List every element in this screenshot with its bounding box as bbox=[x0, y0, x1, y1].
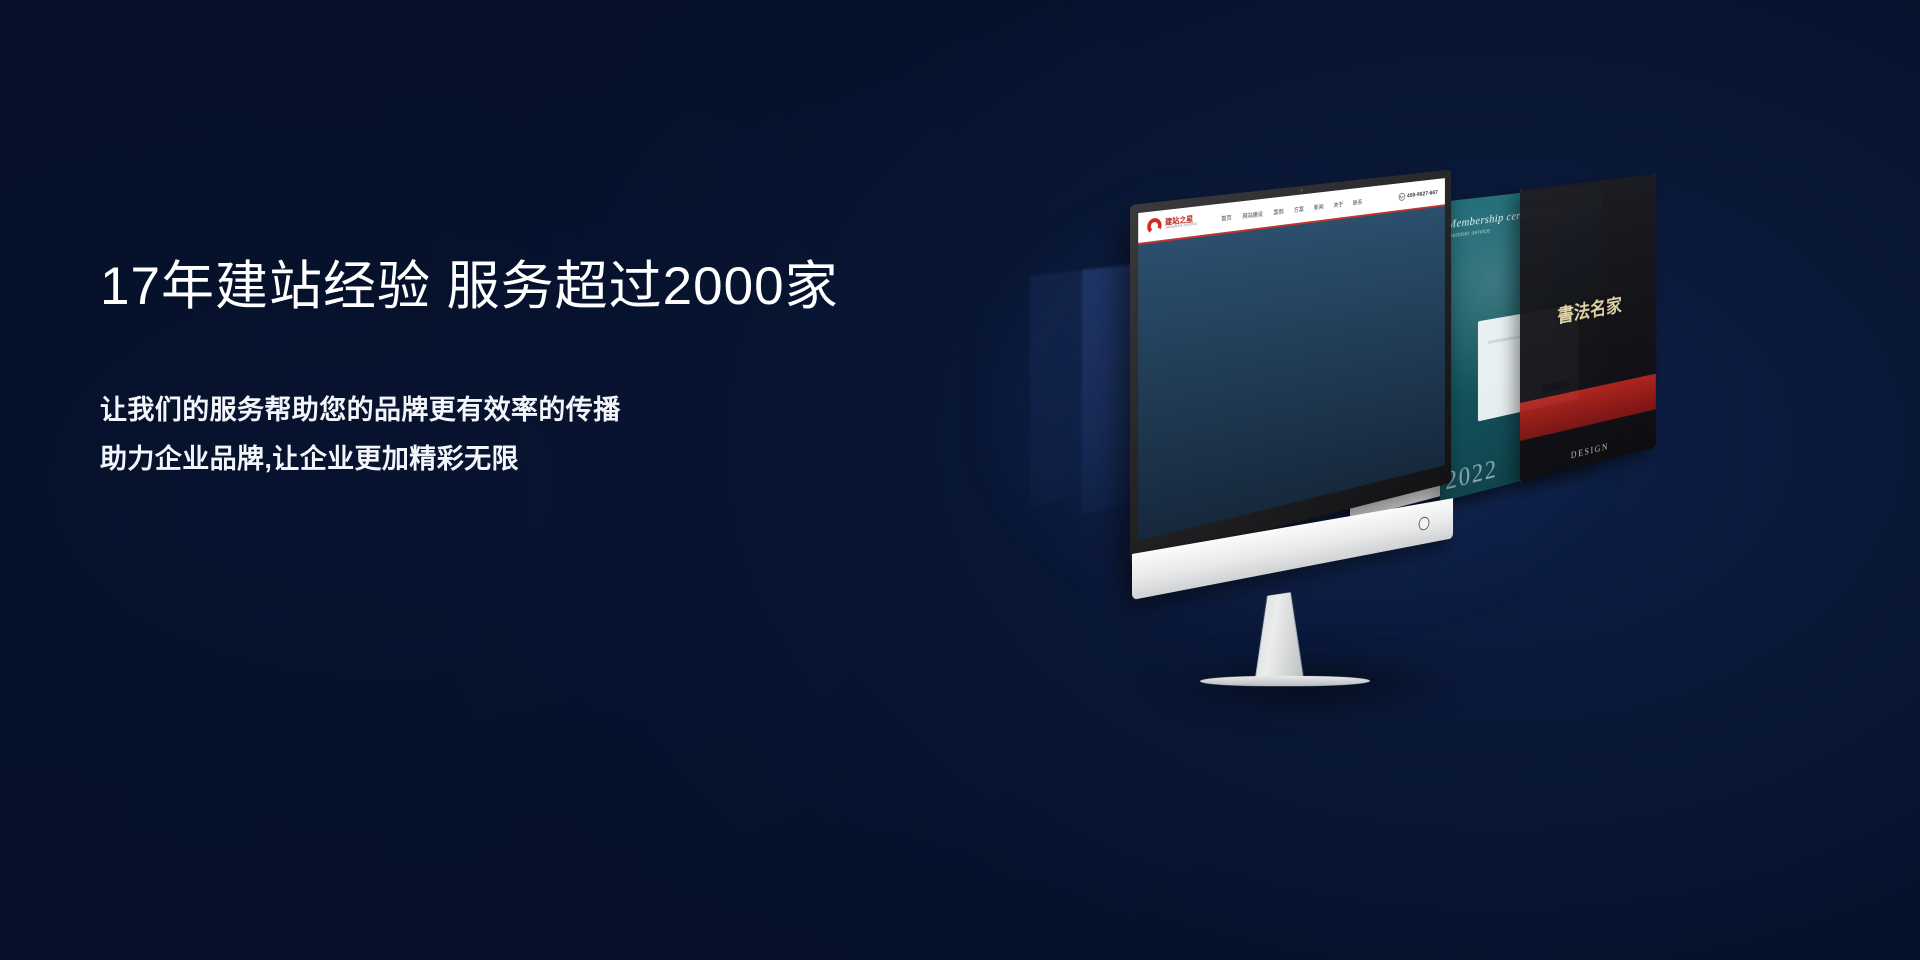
nav-item-2[interactable]: 案例 bbox=[1273, 206, 1283, 216]
nav-item-1[interactable]: 网站建设 bbox=[1242, 209, 1262, 220]
power-button[interactable] bbox=[1419, 516, 1430, 531]
logo-mark-icon bbox=[1147, 217, 1161, 235]
website-logo: 建站之星 JIANZHAN ZHIXING bbox=[1147, 213, 1197, 235]
monitor-base bbox=[1197, 676, 1371, 686]
monitor-graphic: 10 6000 bbox=[1020, 150, 1580, 670]
website-phone: 400-9627-667 bbox=[1398, 188, 1438, 201]
webcam-dot bbox=[1301, 189, 1303, 192]
subtitle-line-2: 助力企业品牌,让企业更加精彩无限 bbox=[100, 435, 980, 484]
display-panel: 建站之星 JIANZHAN ZHIXING 首页 网站建设 案例 方案 新闻 关… bbox=[1138, 178, 1445, 541]
nav-item-3[interactable]: 方案 bbox=[1294, 204, 1304, 214]
thumbnail-calligraphy-site: 書法名家 DESIGN bbox=[1520, 174, 1656, 482]
hero-website: 建站之星 JIANZHAN ZHIXING 首页 网站建设 案例 方案 新闻 关… bbox=[1138, 178, 1445, 541]
nav-item-4[interactable]: 新闻 bbox=[1314, 202, 1324, 211]
phone-icon bbox=[1398, 192, 1405, 201]
hero-copy: 17年建站经验 服务超过2000家 让我们的服务帮助您的品牌更有效率的传播 助力… bbox=[100, 255, 980, 484]
nav-item-5[interactable]: 关于 bbox=[1334, 199, 1343, 208]
subtitle-line-1: 让我们的服务帮助您的品牌更有效率的传播 bbox=[100, 386, 980, 435]
subtitle-group: 让我们的服务帮助您的品牌更有效率的传播 助力企业品牌,让企业更加精彩无限 bbox=[100, 386, 980, 484]
hero-banner: 17年建站经验 服务超过2000家 让我们的服务帮助您的品牌更有效率的传播 助力… bbox=[0, 0, 1920, 960]
calligraphy-background: 書法名家 DESIGN bbox=[1520, 174, 1656, 482]
glyph-text: 書法名家 bbox=[1557, 290, 1621, 328]
logo-text: 建站之星 JIANZHAN ZHIXING bbox=[1165, 215, 1197, 231]
website-hero-body bbox=[1138, 206, 1445, 541]
nav-item-6[interactable]: 联系 bbox=[1353, 197, 1362, 206]
calligraphy-glyphs: 書法名家 bbox=[1529, 235, 1649, 386]
phone-number: 400-9627-667 bbox=[1407, 189, 1438, 199]
nav-item-0[interactable]: 首页 bbox=[1221, 212, 1231, 222]
page-title: 17年建站经验 服务超过2000家 bbox=[100, 255, 980, 320]
design-footer: DESIGN bbox=[1571, 442, 1609, 461]
